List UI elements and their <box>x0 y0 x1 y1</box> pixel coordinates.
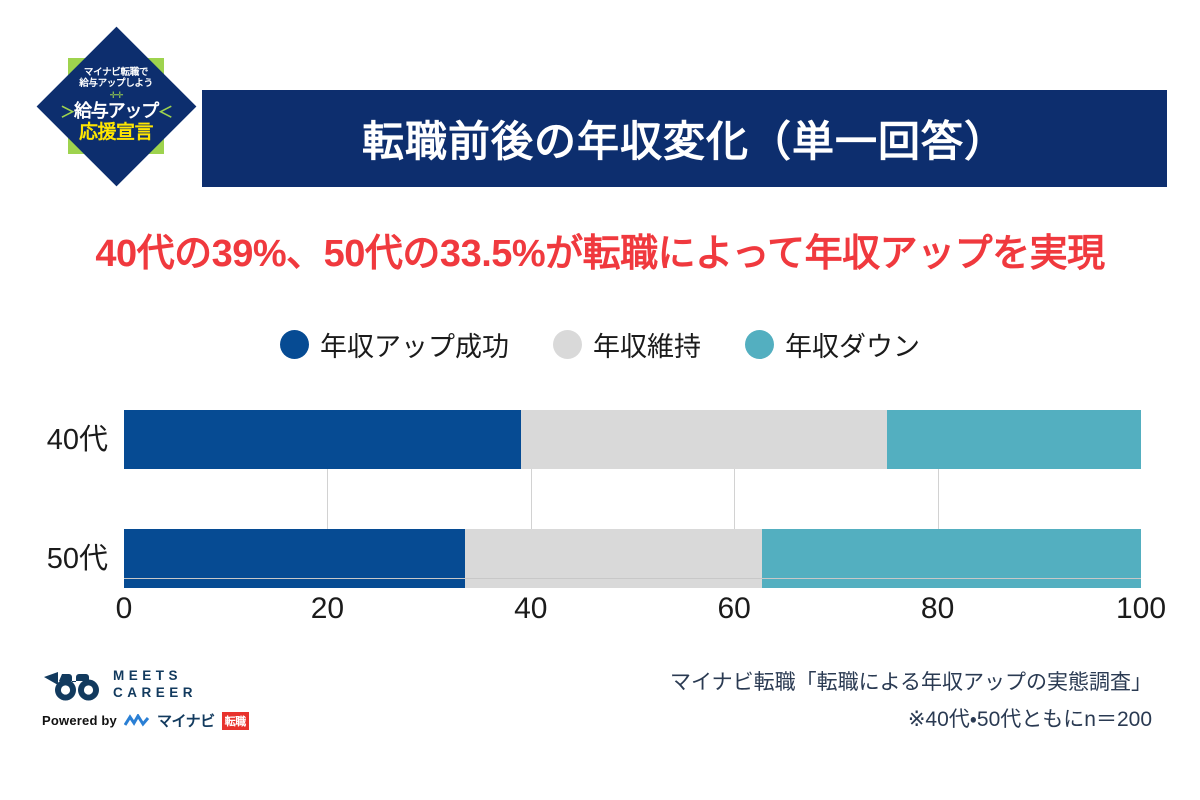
subtitle-highlight: 40代の39%、50代の33.5%が転職によって年収アップを実現 <box>0 222 1200 277</box>
page-title: 転職前後の年収変化（単一回答） <box>362 108 1007 169</box>
table-row <box>124 410 1141 469</box>
legend-dot-icon-1 <box>553 330 582 359</box>
bar-segment-2 <box>887 410 1141 469</box>
bar-segment-1 <box>465 529 762 588</box>
source-note: マイナビ転職「転職による年収アップの実態調査」 ※40代・50代ともにn＝200 <box>670 665 1152 739</box>
meets-career-logo: MEETS CAREER Powered by マイナビ 転職 <box>42 668 292 731</box>
meets-logo-top: MEETS CAREER <box>42 668 292 702</box>
mynavi-tenshoku-tag: 転職 <box>222 712 249 730</box>
legend-item-1: 年収維持 <box>553 325 701 364</box>
table-row <box>124 529 1141 588</box>
binoculars-icon <box>42 668 104 702</box>
bar-segment-2 <box>762 529 1141 588</box>
powered-by-row: Powered by マイナビ 転職 <box>42 710 292 731</box>
stacked-bar-chart <box>0 390 1200 625</box>
meets-word-1: MEETS <box>113 668 197 685</box>
bar-segment-0 <box>124 410 521 469</box>
bar-segment-0 <box>124 529 465 588</box>
x-tick-label-80: 80 <box>921 592 954 626</box>
chart-plot-area <box>124 400 1141 578</box>
kyuyo-up-badge: マイナビ転職で 給与アップしよう ✛✛ ＞給与アップ＜ 応援宣言 <box>36 26 196 186</box>
x-tick-label-100: 100 <box>1116 592 1166 626</box>
x-tick-label-60: 60 <box>718 592 751 626</box>
mynavi-mark-icon <box>124 714 150 728</box>
mynavi-brand-label: マイナビ <box>157 710 215 731</box>
source-line-1: マイナビ転職「転職による年収アップの実態調査」 <box>670 665 1152 702</box>
legend-dot-icon-0 <box>280 330 309 359</box>
badge-text-group: マイナビ転職で 給与アップしよう ✛✛ ＞給与アップ＜ 応援宣言 <box>36 26 196 186</box>
legend-item-2: 年収ダウン <box>745 325 920 364</box>
legend-label-2: 年収ダウン <box>785 325 920 364</box>
badge-sub-text: 応援宣言 <box>79 122 153 144</box>
badge-main-line: ＞給与アップ＜ <box>60 101 172 122</box>
y-axis-label-0: 40代 <box>0 416 108 458</box>
badge-chevron-right-icon: ＜ <box>158 104 172 121</box>
bar-segment-1 <box>521 410 887 469</box>
legend-dot-icon-2 <box>745 330 774 359</box>
badge-marks-icon: ✛✛ <box>109 91 122 100</box>
x-axis-baseline <box>124 578 1141 579</box>
meets-word-2: CAREER <box>113 685 197 702</box>
badge-chevron-left-icon: ＞ <box>60 104 74 121</box>
badge-line2: 給与アップしよう <box>79 79 153 90</box>
x-tick-label-0: 0 <box>116 592 133 626</box>
legend-item-0: 年収アップ成功 <box>280 325 509 364</box>
badge-main-text: 給与アップ <box>74 101 158 121</box>
chart-legend: 年収アップ成功 年収維持 年収ダウン <box>0 325 1200 364</box>
powered-by-label: Powered by <box>42 713 117 728</box>
x-tick-label-20: 20 <box>311 592 344 626</box>
legend-label-0: 年収アップ成功 <box>320 325 509 364</box>
title-bar: 転職前後の年収変化（単一回答） <box>202 90 1167 187</box>
x-tick-label-40: 40 <box>514 592 547 626</box>
meets-logo-words: MEETS CAREER <box>113 668 197 702</box>
y-axis-label-1: 50代 <box>0 535 108 577</box>
legend-label-1: 年収維持 <box>593 325 701 364</box>
source-line-2: ※40代・50代ともにn＝200 <box>670 702 1152 739</box>
